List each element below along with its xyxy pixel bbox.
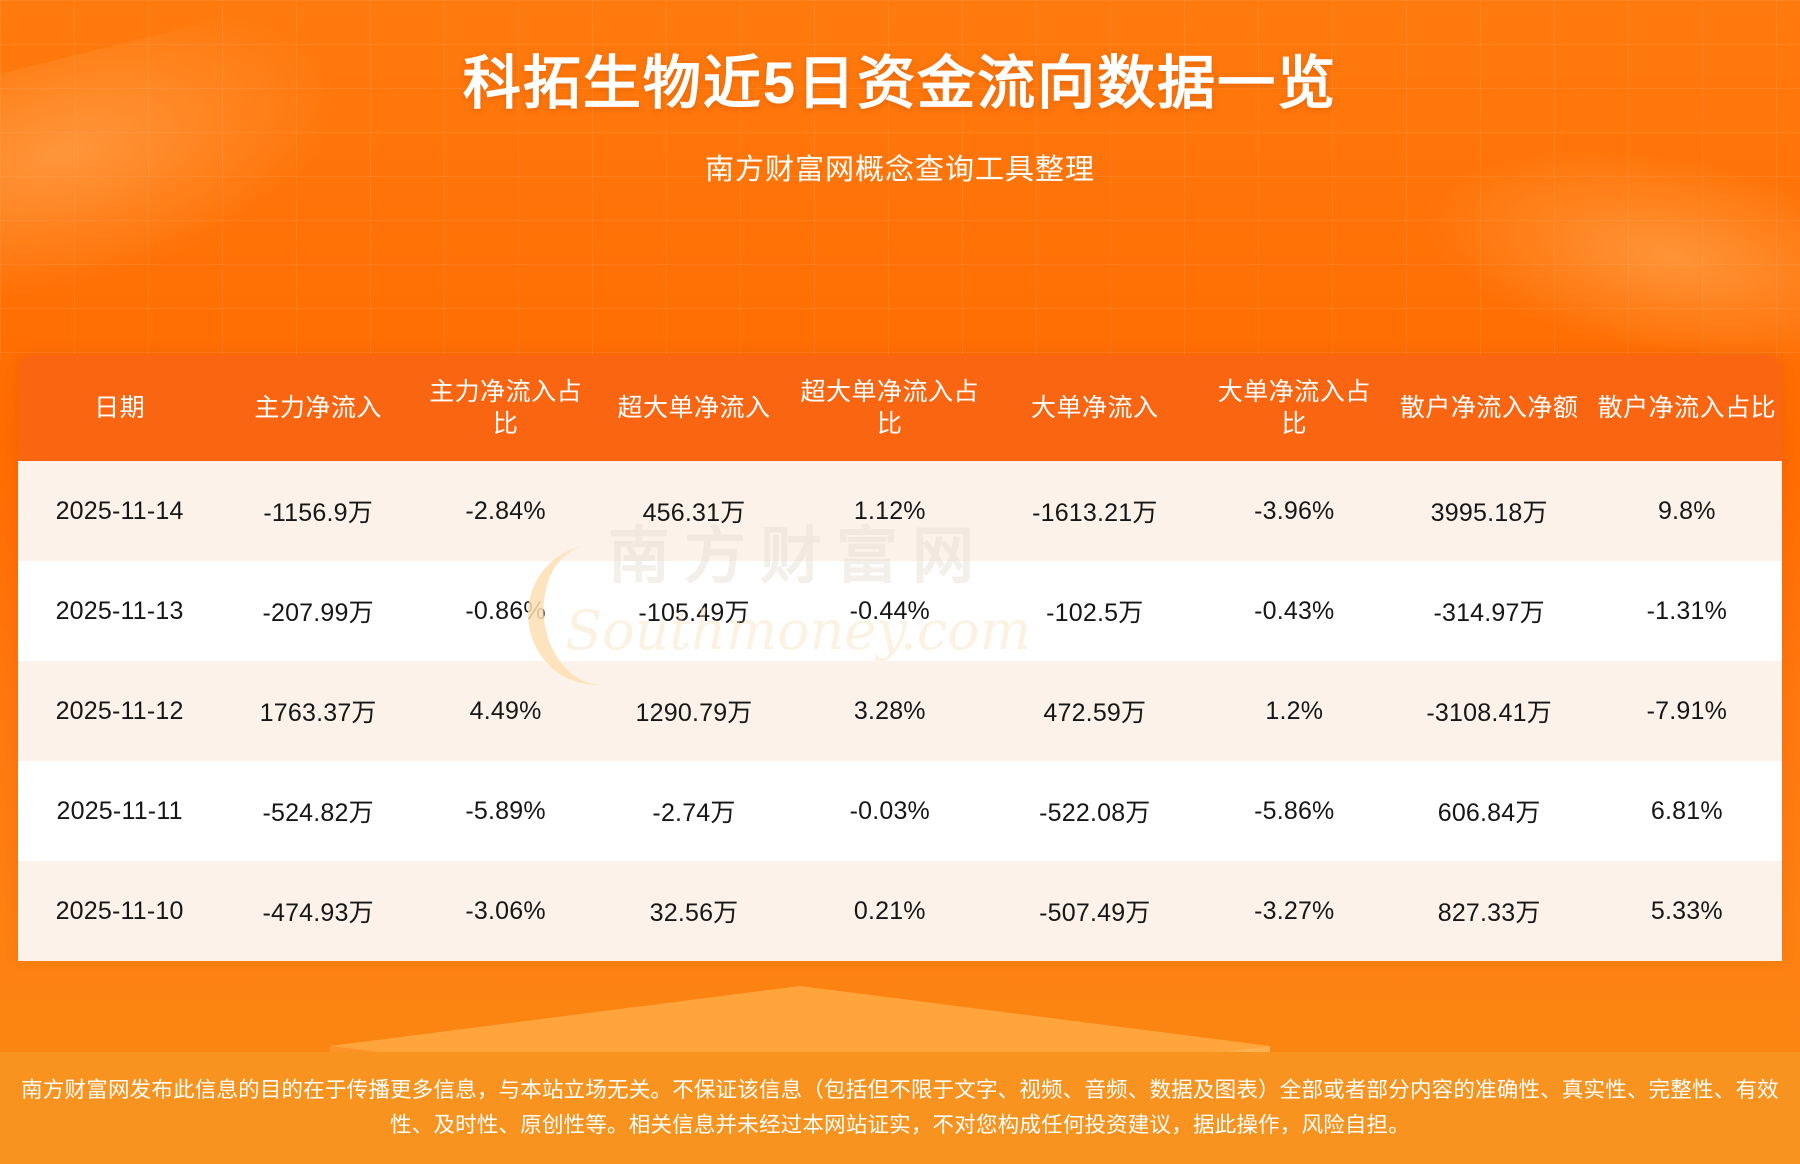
cell-xl-net: -2.74万 xyxy=(596,761,792,861)
cell-retail-net: 606.84万 xyxy=(1387,761,1592,861)
table-head: 日期 主力净流入 主力净流入占比 超大单净流入 超大单净流入占比 大单净流入 大… xyxy=(18,355,1782,461)
table-row: 2025-11-14 -1156.9万 -2.84% 456.31万 1.12%… xyxy=(18,461,1782,561)
cell-xl-net: -105.49万 xyxy=(596,561,792,661)
table-row: 2025-11-13 -207.99万 -0.86% -105.49万 -0.4… xyxy=(18,561,1782,661)
cell-xl-pct: 0.21% xyxy=(792,861,988,961)
cell-date: 2025-11-14 xyxy=(18,461,221,561)
table-body: 2025-11-14 -1156.9万 -2.84% 456.31万 1.12%… xyxy=(18,461,1782,961)
poster-page: 科拓生物近5日资金流向数据一览 南方财富网概念查询工具整理 南方财富网 Sout… xyxy=(0,0,1800,1164)
cell-xl-net: 1290.79万 xyxy=(596,661,792,761)
cell-main-pct: -3.06% xyxy=(415,861,596,961)
cell-lg-net: -522.08万 xyxy=(988,761,1202,861)
cell-lg-pct: -3.27% xyxy=(1202,861,1387,961)
page-subtitle: 南方财富网概念查询工具整理 xyxy=(0,146,1800,188)
page-title: 科拓生物近5日资金流向数据一览 xyxy=(0,36,1800,120)
cell-lg-net: -102.5万 xyxy=(988,561,1202,661)
col-header-main-net: 主力净流入 xyxy=(221,355,415,461)
cell-main-pct: -5.89% xyxy=(415,761,596,861)
cell-retail-net: -314.97万 xyxy=(1387,561,1592,661)
cell-retail-pct: -1.31% xyxy=(1592,561,1782,661)
cell-date: 2025-11-10 xyxy=(18,861,221,961)
cell-xl-net: 456.31万 xyxy=(596,461,792,561)
cell-lg-pct: -0.43% xyxy=(1202,561,1387,661)
cell-main-net: -207.99万 xyxy=(221,561,415,661)
col-header-lg-net: 大单净流入 xyxy=(988,355,1202,461)
col-header-lg-pct: 大单净流入占比 xyxy=(1202,355,1387,461)
col-header-xl-net: 超大单净流入 xyxy=(596,355,792,461)
cell-retail-net: 3995.18万 xyxy=(1387,461,1592,561)
table-row: 2025-11-12 1763.37万 4.49% 1290.79万 3.28%… xyxy=(18,661,1782,761)
cell-lg-pct: -3.96% xyxy=(1202,461,1387,561)
cell-xl-pct: -0.03% xyxy=(792,761,988,861)
col-header-main-pct: 主力净流入占比 xyxy=(415,355,596,461)
cell-main-net: -1156.9万 xyxy=(221,461,415,561)
cell-lg-net: 472.59万 xyxy=(988,661,1202,761)
cell-xl-pct: -0.44% xyxy=(792,561,988,661)
col-header-retail-net: 散户净流入净额 xyxy=(1387,355,1592,461)
footer-disclaimer-bar: 南方财富网发布此信息的目的在于传播更多信息，与本站立场无关。不保证该信息（包括但… xyxy=(0,1052,1800,1164)
cell-retail-pct: 5.33% xyxy=(1592,861,1782,961)
cell-lg-net: -1613.21万 xyxy=(988,461,1202,561)
cell-lg-net: -507.49万 xyxy=(988,861,1202,961)
cell-lg-pct: -5.86% xyxy=(1202,761,1387,861)
table-header-row: 日期 主力净流入 主力净流入占比 超大单净流入 超大单净流入占比 大单净流入 大… xyxy=(18,355,1782,461)
cell-xl-net: 32.56万 xyxy=(596,861,792,961)
cell-xl-pct: 1.12% xyxy=(792,461,988,561)
fund-flow-table-wrapper: 南方财富网 Southmoney.com 日期 主力净流入 主力净 xyxy=(18,355,1782,961)
cell-main-net: -524.82万 xyxy=(221,761,415,861)
cell-retail-net: -3108.41万 xyxy=(1387,661,1592,761)
table-row: 2025-11-10 -474.93万 -3.06% 32.56万 0.21% … xyxy=(18,861,1782,961)
cell-retail-pct: 6.81% xyxy=(1592,761,1782,861)
fund-flow-table: 日期 主力净流入 主力净流入占比 超大单净流入 超大单净流入占比 大单净流入 大… xyxy=(18,355,1782,961)
cell-retail-pct: 9.8% xyxy=(1592,461,1782,561)
cell-retail-net: 827.33万 xyxy=(1387,861,1592,961)
table-row: 2025-11-11 -524.82万 -5.89% -2.74万 -0.03%… xyxy=(18,761,1782,861)
cell-main-net: 1763.37万 xyxy=(221,661,415,761)
col-header-retail-pct: 散户净流入占比 xyxy=(1592,355,1782,461)
cell-xl-pct: 3.28% xyxy=(792,661,988,761)
disclaimer-text: 南方财富网发布此信息的目的在于传播更多信息，与本站立场无关。不保证该信息（包括但… xyxy=(20,1073,1780,1143)
cell-date: 2025-11-11 xyxy=(18,761,221,861)
col-header-xl-pct: 超大单净流入占比 xyxy=(792,355,988,461)
cell-lg-pct: 1.2% xyxy=(1202,661,1387,761)
cell-main-pct: -2.84% xyxy=(415,461,596,561)
cell-date: 2025-11-13 xyxy=(18,561,221,661)
cell-date: 2025-11-12 xyxy=(18,661,221,761)
cell-main-pct: -0.86% xyxy=(415,561,596,661)
col-header-date: 日期 xyxy=(18,355,221,461)
cell-retail-pct: -7.91% xyxy=(1592,661,1782,761)
cell-main-net: -474.93万 xyxy=(221,861,415,961)
cell-main-pct: 4.49% xyxy=(415,661,596,761)
